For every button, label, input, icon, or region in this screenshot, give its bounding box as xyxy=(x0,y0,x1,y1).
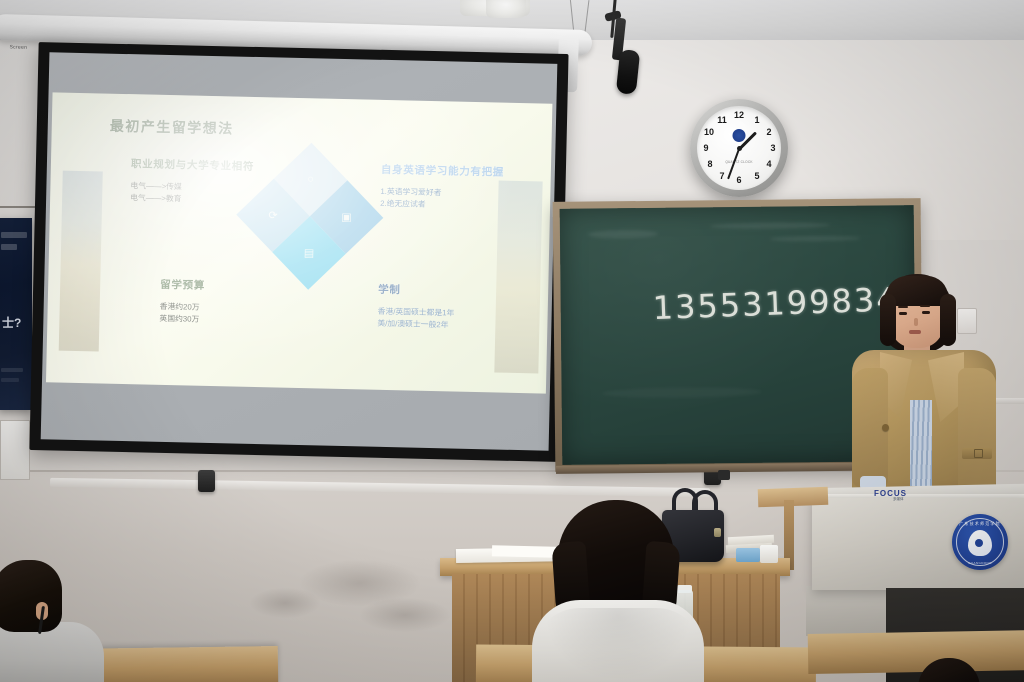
presenter-eye-right xyxy=(922,311,930,314)
chalk-tray-clip xyxy=(718,470,730,480)
clock-numeral: 5 xyxy=(751,170,763,182)
chart-icon: ▤ xyxy=(304,246,315,259)
projection-screen[interactable]: 最初产生留学想法 ○ ▣ ⟳ ▤ 职业规划与大学专业相符 电气——>传媒 电气—… xyxy=(29,42,568,462)
clock-numeral: 6 xyxy=(733,174,745,186)
wall-smudge xyxy=(250,588,320,618)
presenter-nose xyxy=(914,318,918,326)
clock-numeral: 4 xyxy=(763,158,775,170)
clock-numeral: 3 xyxy=(767,142,779,154)
clock-brand-label: QUARTZ CLOCK xyxy=(725,160,752,164)
presenter-brow-right xyxy=(920,305,930,307)
wall-mount-left xyxy=(198,470,215,492)
slide-block-1-heading: 职业规划与大学专业相符 xyxy=(131,156,255,174)
slide-block-4-heading: 学制 xyxy=(378,282,455,299)
white-box xyxy=(760,545,778,563)
clock-numeral: 10 xyxy=(703,126,715,138)
slide-block-1-line-2: 电气——>教育 xyxy=(130,192,253,207)
student-left xyxy=(0,560,122,682)
handbag-clasp-icon xyxy=(714,528,721,537)
podium-brand-sub-label: 多媒体 xyxy=(893,497,904,502)
refresh-icon: ⟳ xyxy=(268,209,278,222)
presenter-mouth xyxy=(909,330,921,334)
poster-text: 士? xyxy=(2,314,21,331)
slide-block-2-heading: 自身英语学习能力有把握 xyxy=(381,162,505,180)
clock-numeral: 1 xyxy=(751,114,763,126)
clock-numeral: 8 xyxy=(704,158,716,170)
student-center xyxy=(520,500,710,682)
slide-block-2: 自身英语学习能力有把握 1.英语学习爱好者 2.绝无应试者 xyxy=(380,162,504,213)
clock-logo-icon xyxy=(733,129,746,142)
idea-icon: ○ xyxy=(307,173,314,185)
clock-numeral: 11 xyxy=(716,114,728,126)
presenter-hair-side-left xyxy=(880,294,896,346)
slide-block-4-line-2: 美/加/澳硕士一般2年 xyxy=(377,318,454,332)
emblem-mark-icon xyxy=(968,530,992,556)
presenter-sleeve-right xyxy=(958,368,996,492)
slide-block-3-heading: 留学预算 xyxy=(160,277,205,293)
slide-block-3-line-1: 香港约20万 xyxy=(160,301,205,314)
presenter-hair-side-right xyxy=(940,294,956,346)
slide-block-2-line-2: 2.绝无应试者 xyxy=(380,198,503,213)
student-center-shading xyxy=(532,608,704,682)
slide-block-3-line-2: 英国约30万 xyxy=(159,313,204,326)
clock-numeral: 9 xyxy=(700,142,712,154)
clock-numeral: 2 xyxy=(763,126,775,138)
blue-box xyxy=(736,548,760,562)
slide-title: 最初产生留学想法 xyxy=(110,116,234,139)
slide-photo-left xyxy=(59,171,103,352)
screen-surface: 最初产生留学想法 ○ ▣ ⟳ ▤ 职业规划与大学专业相符 电气——>传媒 电气—… xyxy=(41,52,558,450)
emblem-bottom-text: GUANGDONG xyxy=(968,561,992,565)
presenter-brow-left xyxy=(898,306,908,308)
monitor-icon: ▣ xyxy=(341,210,352,223)
presenter-coat-opening xyxy=(910,400,932,486)
wall-poster[interactable]: 士? xyxy=(0,218,32,410)
presenter-coat-button xyxy=(882,424,889,431)
clock-numeral: 7 xyxy=(716,170,728,182)
clock-center-pin xyxy=(737,146,742,151)
slide-block-1: 职业规划与大学专业相符 电气——>传媒 电气——>教育 xyxy=(130,156,254,207)
presenter-eye-left xyxy=(899,312,907,315)
roller-brand-label: Screen xyxy=(9,44,39,52)
wall-clock: QUARTZ CLOCK 12 1 2 3 4 5 6 7 8 9 10 11 xyxy=(690,99,788,197)
ceiling-light-secondary-icon xyxy=(486,0,526,18)
foreground-desk-right xyxy=(808,630,1024,674)
wall-smudge xyxy=(360,598,450,632)
slide-block-3: 留学预算 香港约20万 英国约30万 xyxy=(159,277,205,326)
clock-numeral: 12 xyxy=(733,109,745,121)
clock-face: QUARTZ CLOCK 12 1 2 3 4 5 6 7 8 9 10 11 xyxy=(697,106,781,190)
presentation-slide: 最初产生留学想法 ○ ▣ ⟳ ▤ 职业规划与大学专业相符 电气——>传媒 电气—… xyxy=(46,92,552,393)
presenter-belt-buckle xyxy=(974,449,983,458)
student-left-hair xyxy=(0,560,62,632)
wall-notice-board xyxy=(0,420,30,480)
classroom-scene: Screen 士? 最初产生留学想法 ○ ▣ ⟳ ▤ xyxy=(0,0,1024,682)
podium-side-panel xyxy=(806,586,890,636)
university-emblem: 广东技术师范学院 GUANGDONG xyxy=(952,514,1008,570)
emblem-top-text: 广东技术师范学院 xyxy=(959,521,1001,527)
presenter xyxy=(836,272,1016,497)
diamond-graphic: ○ ▣ ⟳ ▤ xyxy=(236,143,383,290)
slide-block-4: 学制 香港/英国硕士都是1年 美/加/澳硕士一般2年 xyxy=(377,282,455,332)
